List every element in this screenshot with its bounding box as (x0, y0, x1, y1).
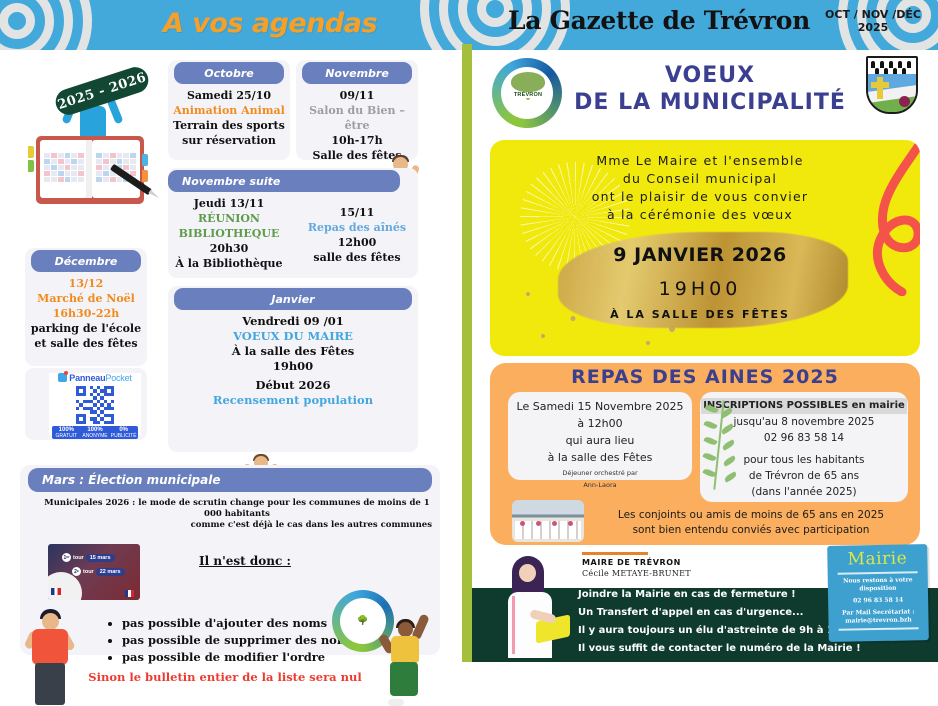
voeux-heading-line-2: DE LA MUNICIPALITÉ (560, 89, 860, 116)
french-flag-icon (51, 588, 61, 595)
coat-of-arms-shape (866, 56, 918, 114)
jumping-woman-illustration (378, 608, 432, 706)
repas-aines-title: REPAS DES AINES 2025 (490, 366, 920, 388)
voeux-heading: VOEUX DE LA MUNICIPALITÉ (560, 62, 860, 116)
jwoman-shirt (391, 636, 419, 664)
vertical-green-divider (462, 50, 472, 662)
repas-aines-line-1: 15/11 (296, 205, 418, 220)
jwoman-shoe (388, 699, 404, 706)
mini-calendar-left (44, 153, 84, 182)
left-section-title: A vos agendas (130, 8, 410, 39)
calendar-illustration: 2025 - 2026 (22, 58, 167, 228)
janvier-line-3: À la salle des Fêtes (168, 344, 418, 359)
pp-stat-0: 100%GRATUIT (52, 426, 81, 439)
repas-details-box: Le Samedi 15 Novembre 2025 à 12h00 qui a… (508, 392, 692, 480)
event-pill-novembre: Novembre (302, 62, 412, 84)
jwoman-pants (390, 662, 418, 696)
book-spine (86, 140, 92, 198)
newsletter-title: La Gazette de Trévron (508, 6, 810, 35)
voeux-invite-line-2: du Conseil municipal (530, 170, 870, 188)
tree-canopy-icon (511, 72, 545, 92)
left-column: 2025 - 2026 Octobre Samedi 25/10 Animati… (0, 50, 462, 662)
round-2-date: 22 mars (96, 568, 125, 576)
mars-warning: Sinon le bulletin entier de la liste ser… (80, 670, 370, 684)
election-round-1: 1ᵉʳ tour 15 mars (62, 553, 115, 562)
pp-stat-0-label: GRATUIT (56, 433, 78, 439)
event-pill-novembre-suite: Novembre suite (168, 170, 400, 192)
election-seal (48, 572, 82, 600)
issue-year: 2025 (818, 21, 928, 34)
octobre-line-1: Samedi 25/10 (168, 88, 290, 103)
phoneman-head (42, 613, 59, 630)
event-body-decembre: 13/12 Marché de Noël 16h30-22h parking d… (25, 276, 147, 351)
tree-icon: 🌳 (345, 601, 381, 639)
recensement-line-1: Début 2026 (168, 378, 418, 393)
repas-aines-line-3: 12h00 (296, 235, 418, 250)
mars-election-pill: Mars : Élection municipale (28, 468, 432, 492)
nov-suite-line-2: RÉUNION (168, 211, 290, 226)
janvier-line-4: 19h00 (168, 359, 418, 374)
repas-note-line-1: Les conjoints ou amis de moins de 65 ans… (592, 508, 910, 523)
decembre-line-5: et salle des fêtes (25, 336, 147, 351)
event-body-novembre: 09/11 Salon du Bien – être 10h-17h Salle… (296, 88, 418, 163)
event-pill-janvier: Janvier (174, 288, 412, 310)
mairie-contact-note: Mairie Nous restons à votre disposition … (827, 544, 929, 642)
repas-left-line-2: à 12h00 (508, 415, 692, 432)
voeux-invite-line-3: ont le plaisir de vous convier (530, 188, 870, 206)
list-item: pas possible de supprimer des noms (122, 632, 368, 649)
voeux-invite-line-4: à la cérémonie des vœux (530, 206, 870, 224)
man-on-phone-illustration (22, 605, 84, 705)
round-2-number: 2ᵉ (72, 567, 81, 576)
event-pill-decembre: Décembre (31, 250, 141, 272)
nov-suite-line-5: À la Bibliothèque (168, 256, 290, 271)
woman-with-laptop-illustration (492, 556, 574, 660)
mars-heading: Il n'est donc : (170, 554, 320, 568)
book-tab-yellow (28, 146, 34, 158)
voeux-invitation-card: Mme Le Maire et l'ensemble du Conseil mu… (490, 140, 920, 356)
fern-decoration (702, 396, 738, 494)
footer-line-4: Il vous suffit de contacter le numéro de… (578, 640, 908, 658)
panneaupocket-block: PanneauPocket 100%GRATUIT 100%ANONYME 0%… (49, 373, 141, 435)
nov-suite-line-1: Jeudi 13/11 (168, 196, 290, 211)
decembre-line-1: 13/12 (25, 276, 147, 291)
repas-left-line-4: à la salle des Fêtes (508, 449, 692, 466)
recensement-line-2: Recensement population (168, 393, 418, 408)
janvier-line-2: VOEUX DU MAIRE (168, 329, 418, 344)
mairie-note-rule-bottom (839, 627, 919, 630)
list-item: pas possible d'ajouter des noms (122, 615, 368, 632)
decembre-line-4: parking de l'école (25, 321, 147, 336)
trevron-logo-label: TRÉVRON (505, 92, 551, 98)
panneaupocket-brand-bold: Panneau (69, 373, 105, 383)
repas-aines-line-4: salle des fêtes (296, 250, 418, 265)
repas-left-line-1: Le Samedi 15 Novembre 2025 (508, 398, 692, 415)
qr-code-grid (76, 386, 114, 424)
election-round-2: 2ᵉ tour 22 mars (72, 567, 125, 576)
woman-face (519, 564, 536, 582)
round-1-date: 15 mars (86, 554, 115, 562)
mairie-note-body: Nous restons à votre disposition 02 96 8… (828, 576, 929, 626)
coat-of-arms (866, 56, 918, 118)
repas-note-line-2: sont bien entendu conviés avec participa… (592, 523, 910, 538)
event-body-novembre-suite: Jeudi 13/11 RÉUNION BIBLIOTHEQUE 20h30 À… (168, 196, 290, 271)
mairie-note-title: Mairie (827, 548, 927, 570)
repas-participation-note: Les conjoints ou amis de moins de 65 ans… (592, 508, 910, 538)
event-body-janvier: Vendredi 09 /01 VOEUX DU MAIRE À la sall… (168, 314, 418, 374)
mars-subtitle-line-2: comme c'est déjà le cas dans les autres … (42, 520, 432, 531)
novembre-line-2: Salon du Bien – être (296, 103, 418, 133)
woman-shirt-stripe (512, 596, 515, 654)
issue-date: OCT / NOV /DÉC 2025 (818, 8, 928, 34)
jwoman-head (398, 622, 413, 637)
maire-accent-rule (582, 552, 648, 555)
decorative-rings-left (0, 0, 92, 50)
voeux-date: 9 JANVIER 2026 (550, 244, 850, 266)
repas-aines-line-2: Repas des aînés (296, 220, 418, 235)
octobre-line-4: sur réservation (168, 133, 290, 148)
page-header: A vos agendas La Gazette de Trévron OCT … (0, 0, 938, 50)
octobre-line-2: Animation Animal (168, 103, 290, 118)
mars-subtitle-line-1: Municipales 2026 : le mode de scrutin ch… (42, 498, 432, 520)
panneaupocket-logo: PanneauPocket (49, 373, 141, 383)
maire-role-label: MAIRE DE TRÉVRON (582, 558, 681, 567)
voeux-hour: 19H00 (550, 278, 850, 300)
decembre-line-2: Marché de Noël (25, 291, 147, 306)
novembre-line-1: 09/11 (296, 88, 418, 103)
blason-cross-or (877, 77, 883, 99)
trevron-logo-tree: TRÉVRON (505, 70, 551, 116)
voeux-place: À LA SALLE DES FÊTES (550, 308, 850, 321)
repas-left-line-3: qui aura lieu (508, 432, 692, 449)
maire-name: Cécile METAYE-BRUNET (582, 569, 691, 578)
round-1-label: tour (73, 555, 84, 561)
book-tab-green (28, 160, 34, 172)
repas-orchestra-label: Déjeuner orchestré par (508, 469, 692, 478)
election-poster-image: 1ᵉʳ tour 15 mars 2ᵉ tour 22 mars (48, 544, 140, 600)
mars-subtitle: Municipales 2026 : le mode de scrutin ch… (42, 498, 432, 531)
tree-roots-icon (513, 98, 543, 110)
blason-grapes (899, 96, 910, 107)
event-pill-octobre: Octobre (174, 62, 284, 84)
book-tab-blue (142, 154, 148, 166)
panneaupocket-icon (58, 373, 67, 382)
book-tab-orange (142, 170, 148, 182)
event-body-octobre: Samedi 25/10 Animation Animal Terrain de… (168, 88, 290, 148)
pp-stat-1: 100%ANONYME (81, 426, 110, 439)
recensement-block: Début 2026 Recensement population (168, 378, 418, 408)
phoneman-shirt (32, 629, 68, 665)
decembre-line-3: 16h30-22h (25, 306, 147, 321)
qr-code[interactable] (76, 386, 114, 424)
pp-stat-2: 0%PUBLICITÉ (109, 426, 138, 439)
list-item: pas possible de modifier l'ordre (122, 649, 368, 666)
round-2-label: tour (83, 569, 94, 575)
pp-stat-2-label: PUBLICITÉ (111, 433, 137, 439)
blason-chief (868, 58, 916, 74)
mars-bullet-list: pas possible d'ajouter des noms pas poss… (108, 615, 368, 666)
french-flag-icon-secondary (125, 590, 134, 597)
mairie-note-rule-top (838, 571, 918, 574)
voeux-invitation-text: Mme Le Maire et l'ensemble du Conseil mu… (530, 152, 870, 224)
round-1-number: 1ᵉʳ (62, 553, 71, 562)
banquet-hall-photo (512, 500, 584, 542)
repas-orchestra-name: Ann-Laora (508, 481, 692, 490)
panneaupocket-brand-light: Pocket (105, 373, 131, 383)
pp-stat-1-label: ANONYME (82, 433, 107, 439)
voeux-invite-line-1: Mme Le Maire et l'ensemble (530, 152, 870, 170)
event-body-repas-aines-left: 15/11 Repas des aînés 12h00 salle des fê… (296, 205, 418, 265)
panneaupocket-stats: 100%GRATUIT 100%ANONYME 0%PUBLICITÉ (52, 426, 138, 439)
mairie-note-mail[interactable]: mairie@trevron.bzh (832, 616, 924, 626)
janvier-line-1: Vendredi 09 /01 (168, 314, 418, 329)
nov-suite-line-3: BIBLIOTHEQUE (168, 226, 290, 241)
voeux-heading-line-1: VOEUX (560, 62, 860, 89)
nov-suite-line-4: 20h30 (168, 241, 290, 256)
issue-months: OCT / NOV /DÉC (818, 8, 928, 21)
phoneman-pants (35, 663, 65, 705)
octobre-line-3: Terrain des sports (168, 118, 290, 133)
novembre-line-3: 10h-17h (296, 133, 418, 148)
